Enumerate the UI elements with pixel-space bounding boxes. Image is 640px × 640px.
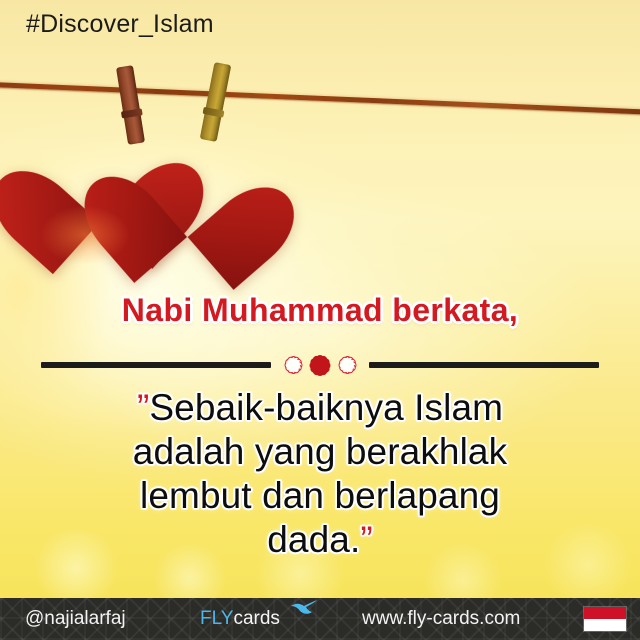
brand-name-second: cards <box>233 608 279 630</box>
heart-icon <box>116 130 265 267</box>
flower-open-icon <box>337 355 357 375</box>
quote-line-4: dada. <box>267 519 360 560</box>
flower-solid-icon <box>309 354 331 376</box>
bird-icon <box>290 599 318 617</box>
hashtag-label: #Discover_Islam <box>26 10 214 39</box>
brand-name-first: FLY <box>200 608 233 630</box>
close-quote-mark: ” <box>360 519 372 560</box>
divider <box>0 350 640 380</box>
quote-line: ”Sebaik-baiknya Islam <box>0 386 640 430</box>
website-url[interactable]: www.fly-cards.com <box>362 608 520 630</box>
quote-line-3: lembut dan berlapang <box>0 474 640 518</box>
indonesia-flag-icon <box>583 606 627 632</box>
flower-open-icon <box>283 355 303 375</box>
quote-line-1: Sebaik-baiknya Islam <box>149 387 503 428</box>
social-handle[interactable]: @najialarfaj <box>25 608 126 630</box>
rope <box>0 82 640 115</box>
quote-line-2: adalah yang berakhlak <box>0 430 640 474</box>
divider-line-left <box>41 362 271 368</box>
open-quote-mark: ” <box>137 387 149 428</box>
page-title: Nabi Muhammad berkata, <box>0 292 640 329</box>
quote-text: ”Sebaik-baiknya Islam adalah yang berakh… <box>0 386 640 562</box>
greeting-card: #Discover_Islam Nabi Muhammad berkata, <box>0 0 640 640</box>
divider-line-right <box>369 362 599 368</box>
quote-line: dada.” <box>0 518 640 562</box>
brand-logo[interactable]: FLYcards <box>200 608 280 630</box>
footer-bar: @najialarfaj FLYcards www.fly-cards.com <box>0 598 640 640</box>
